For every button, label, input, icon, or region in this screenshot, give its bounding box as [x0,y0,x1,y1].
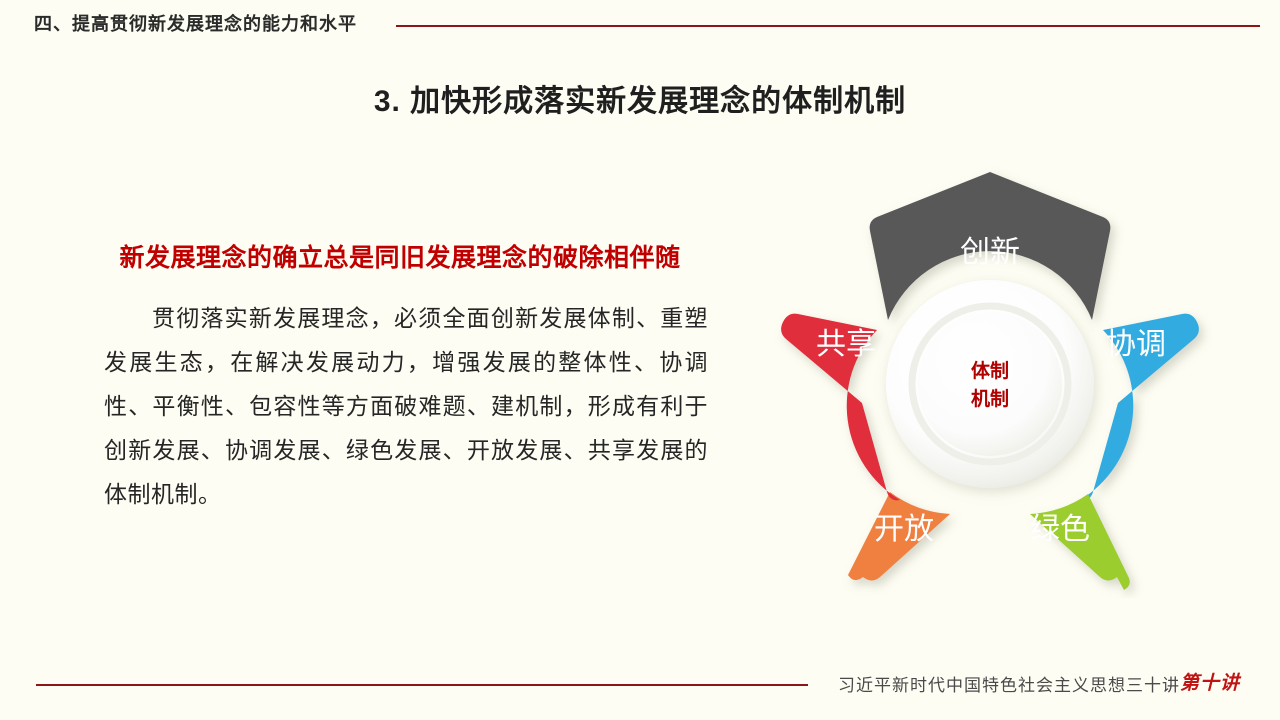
slide-root: 四、提高贯彻新发展理念的能力和水平 3. 加快形成落实新发展理念的体制机制 新发… [0,0,1280,720]
footer-divider-line [36,684,808,686]
petal-label-coordination: 协调 [1106,328,1166,361]
header-divider-line [396,25,1260,27]
content-subheading: 新发展理念的确立总是同旧发展理念的破除相伴随 [80,238,720,274]
petal-label-openness: 开放 [874,513,934,546]
footer-series-title: 习近平新时代中国特色社会主义思想三十讲 [838,671,1180,696]
petal-label-innovation: 创新 [960,236,1020,269]
petal-label-sharing: 共享 [816,328,876,361]
pentagon-diagram: 体制 机制 创新 协调 绿色 开放 共享 [768,162,1212,598]
page-title: 3. 加快形成落实新发展理念的体制机制 [0,76,1280,120]
pentagon-diagram-svg: 体制 机制 创新 协调 绿色 开放 共享 [768,162,1212,598]
slide-header: 四、提高贯彻新发展理念的能力和水平 [0,0,1280,50]
center-label-line2: 机制 [971,387,1009,410]
slide-footer: 习近平新时代中国特色社会主义思想三十讲 第十讲 [0,660,1280,720]
content-column: 新发展理念的确立总是同旧发展理念的破除相伴随 贯彻落实新发展理念，必须全面创新发… [80,238,720,516]
section-title: 四、提高贯彻新发展理念的能力和水平 [34,10,357,36]
center-core [918,312,1062,456]
footer-lecture-badge: 第十讲 [1180,668,1240,695]
content-paragraph: 贯彻落实新发展理念，必须全面创新发展体制、重塑发展生态，在解决发展动力，增强发展… [80,296,720,516]
petal-label-green: 绿色 [1030,513,1090,546]
center-label-line1: 体制 [971,359,1009,382]
